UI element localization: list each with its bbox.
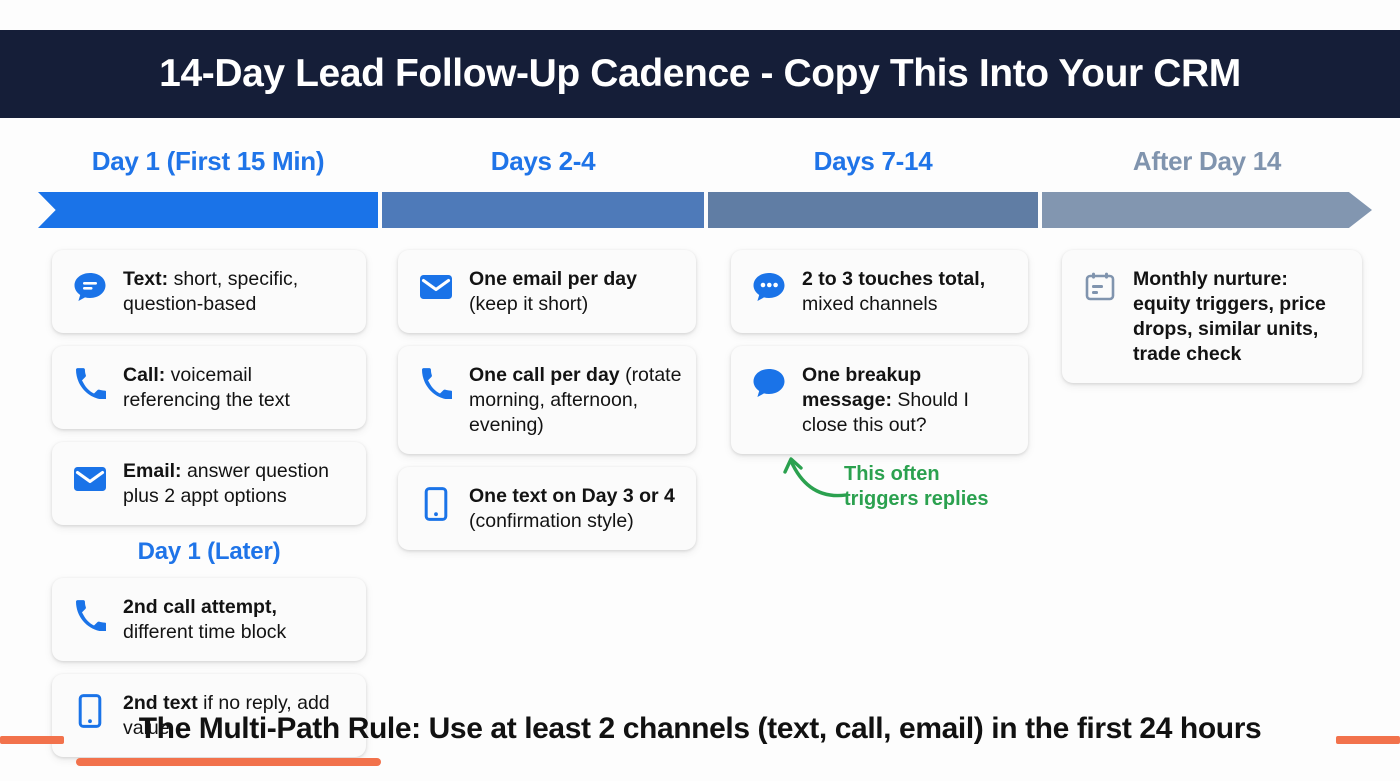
card-one-email-label: One email per day (keep it short): [469, 266, 682, 317]
card-rest: (keep it short): [469, 293, 588, 315]
card-second-call: 2nd call attempt, different time block: [52, 578, 366, 661]
footer-text: The Multi-Path Rule: Use at least 2 chan…: [0, 712, 1400, 746]
footer-rest: Use at least 2 channels (text, call, ema…: [421, 712, 1262, 745]
column-heading-2: Days 2-4: [382, 146, 704, 177]
infographic-canvas: 14-Day Lead Follow-Up Cadence - Copy Thi…: [0, 0, 1400, 781]
footer-lead: The Multi-Path Rule:: [139, 712, 421, 745]
page-title: 14-Day Lead Follow-Up Cadence - Copy Thi…: [159, 52, 1241, 96]
chat-bubble-solid-icon: [747, 363, 791, 403]
card-lead: 2nd text: [123, 692, 198, 714]
header-bar: 14-Day Lead Follow-Up Cadence - Copy Thi…: [0, 30, 1400, 118]
card-lead: 2 to 3 touches total,: [802, 268, 985, 290]
chat-bubble-icon: [68, 267, 112, 307]
envelope-icon: [414, 267, 458, 307]
sub-heading-day-1-later: Day 1 (Later): [52, 538, 366, 566]
curved-arrow-up-left-icon: [774, 450, 854, 512]
timeline-segment-1: [38, 192, 378, 228]
calendar-icon: [1078, 267, 1122, 307]
card-rest: mixed channels: [802, 293, 938, 315]
card-one-call-label: One call per day (rotate morning, aftern…: [469, 362, 682, 438]
card-rest: different time block: [123, 621, 286, 643]
column-heading-1: Day 1 (First 15 Min): [38, 146, 378, 177]
card-one-text-label: One text on Day 3 or 4 (confirmation sty…: [469, 483, 682, 534]
card-monthly-nurture: Monthly nurture: equity triggers, price …: [1062, 250, 1362, 383]
card-call: Call: voicemail referencing the text: [52, 346, 366, 429]
card-one-email: One email per day (keep it short): [398, 250, 696, 333]
card-monthly-nurture-label: Monthly nurture: equity triggers, price …: [1133, 266, 1348, 367]
card-lead: Call:: [123, 364, 165, 386]
card-call-label: Call: voicemail referencing the text: [123, 362, 352, 413]
column-heading-3: Days 7-14: [708, 146, 1038, 177]
column-headings: Day 1 (First 15 Min) Days 2-4 Days 7-14 …: [0, 146, 1400, 186]
card-one-call: One call per day (rotate morning, aftern…: [398, 346, 696, 454]
card-rest: (confirmation style): [469, 510, 634, 532]
footer-rule: The Multi-Path Rule: Use at least 2 chan…: [0, 712, 1400, 774]
card-text: Text: short, specific, question-based: [52, 250, 366, 333]
annotation-triggers-replies: This often triggers replies: [774, 450, 1034, 530]
card-breakup-label: One breakup message: Should I close this…: [802, 362, 1014, 438]
card-lead: One text on Day 3 or 4: [469, 485, 675, 507]
card-lead: 2nd call attempt,: [123, 596, 277, 618]
phone-icon: [68, 363, 112, 403]
column-days-2-4: One email per day (keep it short) One ca…: [398, 250, 696, 563]
card-one-text: One text on Day 3 or 4 (confirmation sty…: [398, 467, 696, 550]
card-email-label: Email: answer question plus 2 appt optio…: [123, 458, 352, 509]
timeline-chevron-bar: [0, 192, 1400, 228]
footer-underline: [76, 758, 381, 766]
card-lead: One call per day: [469, 364, 620, 386]
card-lead: Monthly nurture: equity triggers, price …: [1133, 268, 1326, 365]
phone-icon: [414, 363, 458, 403]
card-lead: Email:: [123, 460, 182, 482]
timeline-segment-4: [1042, 192, 1372, 228]
card-touches-label: 2 to 3 touches total, mixed channels: [802, 266, 1014, 317]
mobile-phone-icon: [414, 484, 458, 524]
timeline-segment-3: [708, 192, 1038, 228]
card-breakup-message: One breakup message: Should I close this…: [731, 346, 1028, 454]
column-heading-4: After Day 14: [1042, 146, 1372, 177]
column-day-1: Text: short, specific, question-based Ca…: [52, 250, 366, 770]
card-text-label: Text: short, specific, question-based: [123, 266, 352, 317]
phone-icon: [68, 595, 112, 635]
card-lead: One email per day: [469, 268, 637, 290]
column-after-day-14: Monthly nurture: equity triggers, price …: [1062, 250, 1362, 396]
envelope-icon: [68, 459, 112, 499]
card-touches: 2 to 3 touches total, mixed channels: [731, 250, 1028, 333]
column-days-7-14: 2 to 3 touches total, mixed channels One…: [731, 250, 1028, 467]
annotation-text: This often triggers replies: [844, 462, 989, 512]
timeline-segment-2: [382, 192, 704, 228]
card-lead: Text:: [123, 268, 168, 290]
card-second-call-label: 2nd call attempt, different time block: [123, 594, 352, 645]
chat-dots-icon: [747, 267, 791, 307]
card-email: Email: answer question plus 2 appt optio…: [52, 442, 366, 525]
